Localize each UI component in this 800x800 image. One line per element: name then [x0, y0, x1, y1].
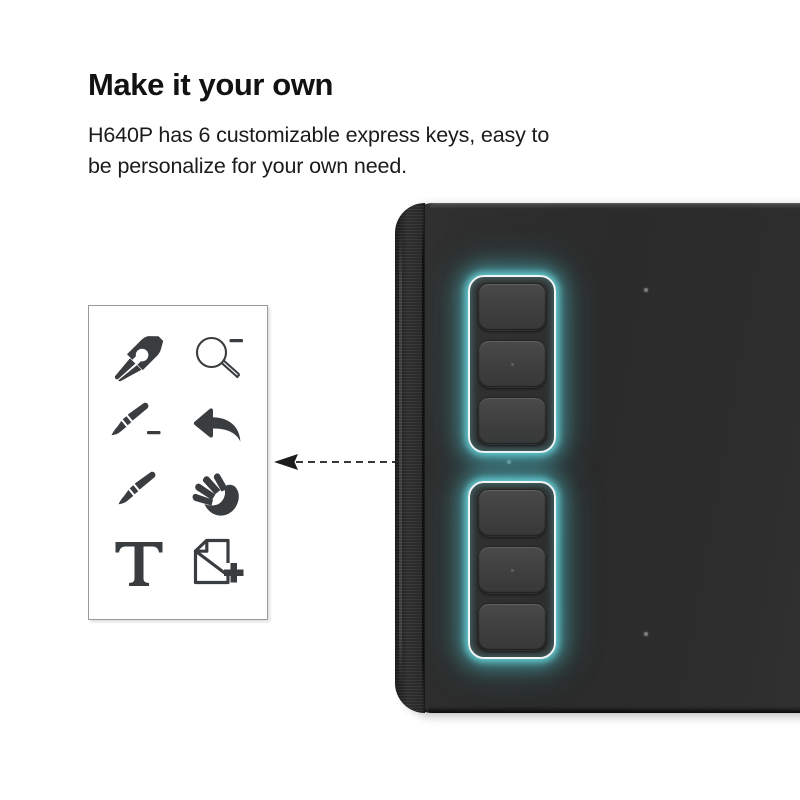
pen-nib-icon [99, 324, 178, 392]
tablet-top-bevel [429, 203, 800, 209]
express-key-6[interactable] [478, 603, 546, 651]
icon-legend-panel [88, 305, 268, 620]
express-key-2[interactable] [478, 340, 546, 388]
active-area-marker-top [644, 288, 648, 292]
page-subtitle: H640P has 6 customizable express keys, e… [88, 120, 688, 181]
hand-pan-icon [178, 461, 257, 529]
brush-decrease-icon [99, 392, 178, 460]
brush-icon [99, 461, 178, 529]
status-indicator-dot [507, 460, 511, 464]
express-key-group-top[interactable] [468, 275, 556, 453]
express-key-4[interactable] [478, 489, 546, 537]
express-key-3[interactable] [478, 397, 546, 445]
tablet-bottom-bevel [429, 706, 800, 713]
text-tool-icon [99, 529, 178, 597]
tablet-body [403, 203, 800, 713]
page-subtitle-line-1: H640P has 6 customizable express keys, e… [88, 120, 688, 151]
page-subtitle-line-2: be personalize for your own need. [88, 151, 688, 182]
express-key-group-bottom[interactable] [468, 481, 556, 659]
tablet-edge-seam [422, 219, 424, 697]
tablet-edge-highlight [399, 229, 402, 687]
undo-icon [178, 392, 257, 460]
express-key-1[interactable] [478, 283, 546, 331]
active-area-marker-bottom [644, 632, 648, 636]
graphics-tablet [395, 203, 800, 713]
page-title: Make it your own [88, 68, 333, 103]
zoom-out-icon [178, 324, 257, 392]
new-file-icon [178, 529, 257, 597]
icon-grid [89, 306, 267, 619]
express-key-5[interactable] [478, 546, 546, 594]
